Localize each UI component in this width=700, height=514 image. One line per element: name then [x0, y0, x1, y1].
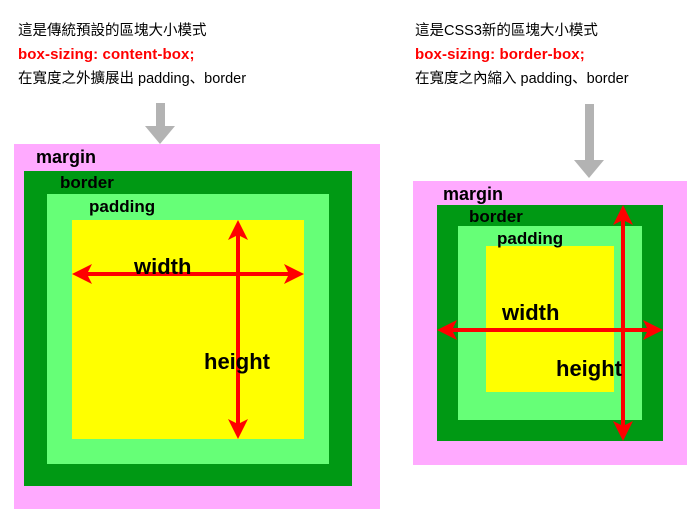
arrow-down-icon [145, 103, 175, 144]
label-border: border [60, 173, 114, 193]
label-height: height [556, 356, 622, 382]
caption-left-code: box-sizing: content-box; [18, 43, 246, 67]
label-width: width [134, 254, 191, 280]
arrow-shaft [156, 103, 165, 128]
arrow-head [574, 160, 604, 178]
label-height: height [204, 349, 270, 375]
label-margin: margin [36, 147, 96, 168]
caption-border-box: 這是CSS3新的區塊大小模式 box-sizing: border-box; 在… [415, 19, 629, 91]
caption-left-line1: 這是傳統預設的區塊大小模式 [18, 19, 246, 43]
label-margin: margin [443, 184, 503, 205]
caption-right-line1: 這是CSS3新的區塊大小模式 [415, 19, 629, 43]
label-padding: padding [89, 197, 155, 217]
content-area [72, 220, 304, 439]
box-model-diagram-content-box: margin border padding width height [14, 144, 380, 509]
caption-right-code: box-sizing: border-box; [415, 43, 629, 67]
label-width: width [502, 300, 559, 326]
caption-right-line3: 在寬度之內縮入 padding、border [415, 67, 629, 91]
box-model-diagram-border-box: margin border padding width height [413, 181, 687, 465]
caption-content-box: 這是傳統預設的區塊大小模式 box-sizing: content-box; 在… [18, 19, 246, 91]
label-padding: padding [497, 229, 563, 249]
caption-left-line3: 在寬度之外擴展出 padding、border [18, 67, 246, 91]
arrow-head [145, 126, 175, 144]
arrow-shaft [585, 104, 594, 162]
label-border: border [469, 207, 523, 227]
arrow-down-icon [574, 104, 604, 178]
